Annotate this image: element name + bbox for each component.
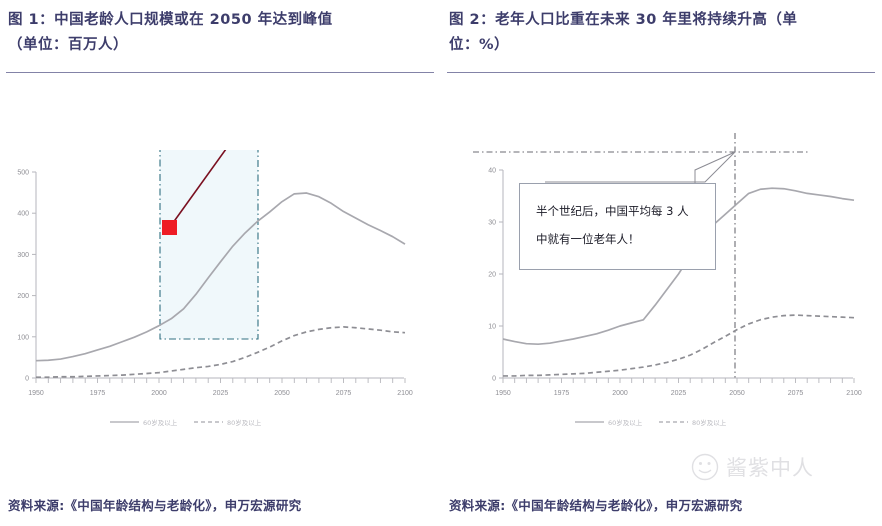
figure-1-source: 资料来源:《中国年龄结构与老龄化》，申万宏源研究 [8,495,301,514]
figure-1-title-line-1: 图 1：中国老龄人口规模或在 2050 年达到峰值 [8,8,428,33]
figure-2-title-divider [447,72,875,73]
figure-1-title-line-2: （单位：百万人） [8,33,428,58]
x-axis-minor-ticks [503,378,854,383]
x-tick-2100: 2100 [846,390,862,397]
figure-1-title: 图 1：中国老龄人口规模或在 2050 年达到峰值 （单位：百万人） [8,8,428,58]
figure-1-svg: 500 400 300 200 100 0 [6,150,426,440]
x-tick-2075: 2075 [788,390,804,397]
x-tick-2100: 2100 [397,390,413,397]
y-tick-20: 20 [488,272,496,279]
y-tick-100: 100 [17,334,29,341]
x-tick-2000: 2000 [612,390,628,397]
x-axis-tick-labels: 1950 1975 2000 2025 2050 2075 2100 [28,390,413,397]
y-tick-400: 400 [17,211,29,218]
series-line-80plus [503,315,854,376]
x-tick-1950: 1950 [495,390,511,397]
y-tick-30: 30 [488,220,496,227]
x-tick-2025: 2025 [671,390,687,397]
y-axis-ticks [32,172,36,378]
callout-line-2: 中就有一位老年人！ [536,225,701,253]
y-tick-200: 200 [17,293,29,300]
figure-2-chart: 40 30 20 10 0 [455,130,875,440]
figure-2-source: 资料来源:《中国年龄结构与老龄化》，申万宏源研究 [449,495,742,514]
figure-1-panel: 图 1：中国老龄人口规模或在 2050 年达到峰值 （单位：百万人） [0,0,441,526]
y-tick-300: 300 [17,252,29,259]
figure-2-svg: 40 30 20 10 0 [455,130,875,440]
x-tick-1975: 1975 [90,390,106,397]
figure-1-chart: 500 400 300 200 100 0 [6,150,426,440]
figure-2-title-line-2: 位：%） [449,33,869,58]
x-axis-tick-labels: 1950 1975 2000 2025 2050 2075 2100 [495,390,862,397]
x-axis-minor-ticks [36,378,405,383]
x-tick-2050: 2050 [729,390,745,397]
y-tick-40: 40 [488,168,496,175]
figure-2-title-line-1: 图 2：老年人口比重在未来 30 年里将持续升高（单 [449,8,869,33]
slide-page: 图 1：中国老龄人口规模或在 2050 年达到峰值 （单位：百万人） [0,0,882,526]
figure-2-legend: 60岁及以上 80岁及以上 [575,418,727,427]
x-tick-1975: 1975 [554,390,570,397]
legend-label-60plus: 60岁及以上 [143,418,178,427]
highlight-region [160,150,258,339]
x-tick-2075: 2075 [336,390,352,397]
x-tick-2000: 2000 [151,390,167,397]
x-tick-2025: 2025 [213,390,229,397]
figure-2-title: 图 2：老年人口比重在未来 30 年里将持续升高（单 位：%） [449,8,869,58]
y-tick-500: 500 [17,170,29,177]
x-tick-1950: 1950 [28,390,44,397]
y-axis-tick-labels: 500 400 300 200 100 0 [17,170,29,383]
y-tick-0: 0 [492,376,496,383]
legend-label-80plus: 80岁及以上 [692,418,727,427]
figure-1-title-divider [6,72,434,73]
y-tick-0: 0 [25,376,29,383]
y-axis-ticks [499,170,503,378]
red-square-marker [162,220,177,235]
legend-label-60plus: 60岁及以上 [608,418,643,427]
y-axis-tick-labels: 40 30 20 10 0 [488,168,496,383]
y-tick-10: 10 [488,324,496,331]
callout-line-1: 半个世纪后，中国平均每 3 人 [536,197,701,225]
figure-1-legend: 60岁及以上 80岁及以上 [110,418,262,427]
legend-label-80plus: 80岁及以上 [227,418,262,427]
x-tick-2050: 2050 [274,390,290,397]
callout-box: 半个世纪后，中国平均每 3 人 中就有一位老年人！ [519,183,716,270]
